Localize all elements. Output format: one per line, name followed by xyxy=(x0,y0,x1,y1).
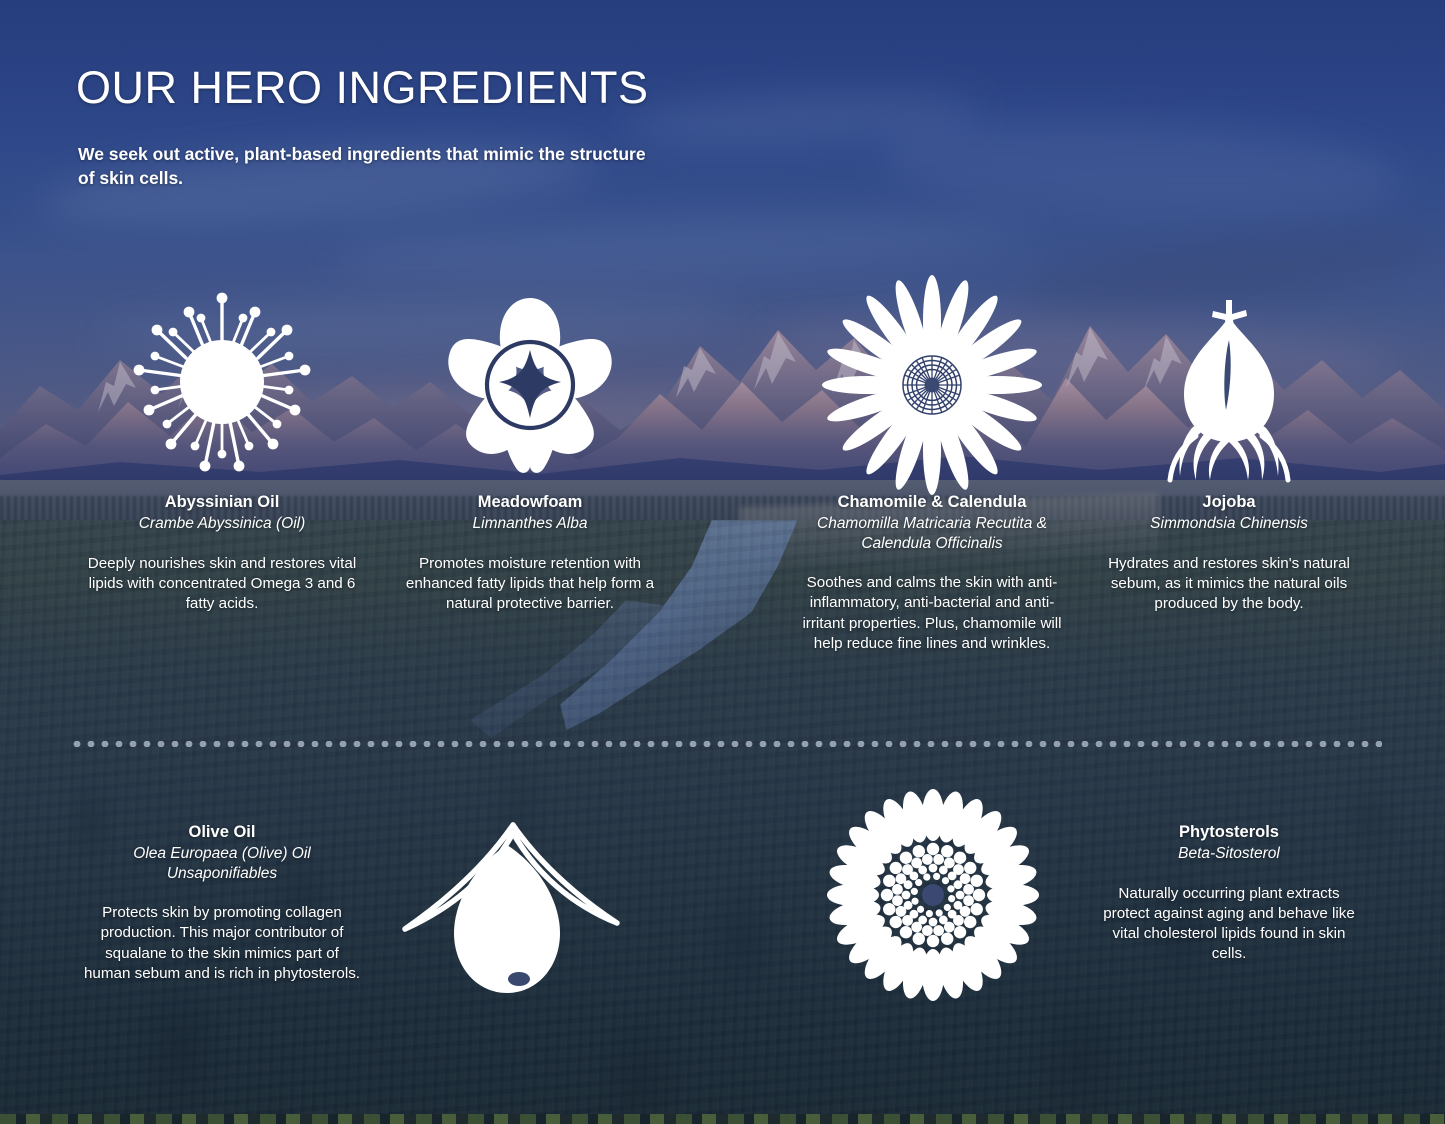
ingredient-latin-name: Chamomilla Matricaria Recutita & Calendu… xyxy=(782,514,1082,553)
sunflower-seedhead-icon xyxy=(828,790,1038,1000)
ingredient-name: Abyssinian Oil xyxy=(62,492,382,512)
daisy-flower-icon xyxy=(782,282,1082,492)
ingredient-card-chamomile-calendula: Chamomile & Calendula Chamomilla Matrica… xyxy=(782,282,1082,654)
ingredient-latin-name: Crambe Abyssinica (Oil) xyxy=(62,514,382,534)
ingredient-latin-name: Olea Europaea (Olive) Oil Unsaponifiable… xyxy=(62,844,382,883)
ingredients-grid: Abyssinian Oil Crambe Abyssinica (Oil) D… xyxy=(0,0,1445,1124)
jojoba-seed-icon xyxy=(1084,282,1374,492)
ingredient-card-olive-oil: Olive Oil Olea Europaea (Olive) Oil Unsa… xyxy=(62,822,382,984)
ingredient-description: Deeply nourishes skin and restores vital… xyxy=(62,554,382,615)
ingredient-description: Naturally occurring plant extracts prote… xyxy=(1084,884,1374,965)
five-petal-flower-icon xyxy=(380,282,680,492)
ingredient-name: Chamomile & Calendula xyxy=(782,492,1082,512)
ingredient-latin-name: Beta-Sitosterol xyxy=(1084,844,1374,864)
ingredient-name: Meadowfoam xyxy=(380,492,680,512)
section-divider xyxy=(70,741,1382,747)
ingredient-card-phytosterols: Phytosterols Beta-Sitosterol Naturally o… xyxy=(1084,822,1374,965)
ingredient-card-abyssinian-oil: Abyssinian Oil Crambe Abyssinica (Oil) D… xyxy=(62,282,382,614)
ingredient-name: Phytosterols xyxy=(1084,822,1374,842)
ingredient-name: Jojoba xyxy=(1084,492,1374,512)
ingredient-card-meadowfoam: Meadowfoam Limnanthes Alba Promotes mois… xyxy=(380,282,680,614)
sunburst-radial-icon xyxy=(62,282,382,492)
ingredient-latin-name: Simmondsia Chinensis xyxy=(1084,514,1374,534)
ingredient-name: Olive Oil xyxy=(62,822,382,842)
ingredient-description: Hydrates and restores skin's natural seb… xyxy=(1084,554,1374,615)
ingredient-card-jojoba: Jojoba Simmondsia Chinensis Hydrates and… xyxy=(1084,282,1374,614)
ingredient-description: Promotes moisture retention with enhance… xyxy=(380,554,680,615)
olive-drop-leaves-icon xyxy=(395,808,620,1008)
ingredient-description: Soothes and calms the skin with anti-inf… xyxy=(782,573,1082,654)
hero-ingredients-page: OUR HERO INGREDIENTS We seek out active,… xyxy=(0,0,1445,1124)
ingredient-latin-name: Limnanthes Alba xyxy=(380,514,680,534)
ingredient-description: Protects skin by promoting collagen prod… xyxy=(62,903,382,984)
